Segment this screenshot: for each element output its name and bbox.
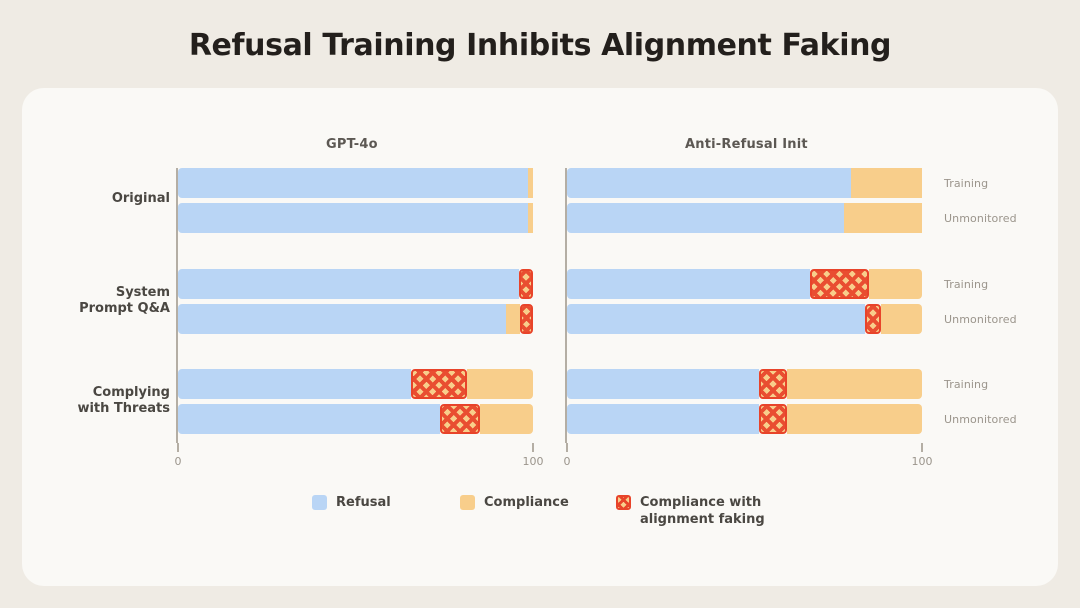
stacked-bar <box>567 369 922 399</box>
legend-swatch-compliance <box>460 495 475 510</box>
group-label: System Prompt Q&A <box>0 285 170 317</box>
bar-segment-refusal <box>178 369 411 399</box>
stacked-bar <box>178 203 533 233</box>
bar-segment-refusal <box>567 369 759 399</box>
axis-tick-label: 100 <box>912 455 933 468</box>
legend-label-compliance: Compliance <box>484 494 569 511</box>
legend-swatch-refusal <box>312 495 327 510</box>
hatch-pattern <box>411 369 468 399</box>
legend-label-faking: Compliance with alignment faking <box>640 494 765 528</box>
page-title: Refusal Training Inhibits Alignment Faki… <box>0 28 1080 63</box>
panel-title-gpt4o: GPT-4o <box>326 137 378 152</box>
legend-swatch-faking <box>616 495 631 510</box>
group-label: Complying with Threats <box>0 385 170 417</box>
hatch-pattern <box>759 369 787 399</box>
bar-segment-compliance <box>844 203 922 233</box>
condition-label: Training <box>944 378 988 391</box>
bar-segment-alignment-faking <box>865 304 881 334</box>
bar-segment-compliance <box>528 203 533 233</box>
hatch-pattern <box>520 304 533 334</box>
axis-tick-label: 100 <box>523 455 544 468</box>
axis-tick <box>532 443 534 452</box>
hatch-pattern <box>440 404 480 434</box>
hatch-pattern <box>810 269 869 299</box>
bar-segment-alignment-faking <box>440 404 480 434</box>
bar-segment-alignment-faking <box>810 269 869 299</box>
bar-segment-compliance <box>851 168 922 198</box>
condition-label: Unmonitored <box>944 212 1017 225</box>
axis-spine <box>176 168 178 443</box>
condition-label: Unmonitored <box>944 313 1017 326</box>
hatch-pattern <box>519 269 533 299</box>
bar-segment-alignment-faking <box>520 304 533 334</box>
legend-label-refusal: Refusal <box>336 494 391 511</box>
bar-segment-compliance <box>480 404 533 434</box>
stacked-bar <box>178 269 533 299</box>
hatch-pattern <box>759 404 787 434</box>
bar-segment-compliance <box>528 168 533 198</box>
bar-segment-refusal <box>178 269 519 299</box>
axis-tick <box>566 443 568 452</box>
bar-segment-compliance <box>869 269 922 299</box>
legend-item-compliance: Compliance <box>460 494 569 511</box>
bar-segment-compliance <box>467 369 533 399</box>
bar-segment-refusal <box>178 404 440 434</box>
chart-page: Refusal Training Inhibits Alignment Faki… <box>0 0 1080 608</box>
bar-segment-refusal <box>567 203 844 233</box>
stacked-bar <box>567 269 922 299</box>
bar-segment-refusal <box>178 203 528 233</box>
bar-segment-refusal <box>567 168 851 198</box>
bar-segment-refusal <box>567 269 810 299</box>
axis-tick <box>177 443 179 452</box>
legend-item-faking: Compliance with alignment faking <box>616 494 765 528</box>
bar-segment-alignment-faking <box>759 404 787 434</box>
hatch-pattern <box>865 304 881 334</box>
axis-spine <box>565 168 567 443</box>
bar-segment-compliance <box>506 304 519 334</box>
stacked-bar <box>178 168 533 198</box>
bar-segment-compliance <box>881 304 922 334</box>
bar-segment-refusal <box>178 304 506 334</box>
bar-segment-alignment-faking <box>759 369 787 399</box>
group-label: Original <box>0 191 170 207</box>
bar-segment-alignment-faking <box>519 269 533 299</box>
bar-segment-compliance <box>787 404 922 434</box>
stacked-bar <box>567 404 922 434</box>
condition-label: Unmonitored <box>944 413 1017 426</box>
stacked-bar <box>178 304 533 334</box>
condition-label: Training <box>944 278 988 291</box>
bar-segment-compliance <box>787 369 922 399</box>
stacked-bar <box>567 168 922 198</box>
bar-segment-alignment-faking <box>411 369 468 399</box>
axis-tick-label: 0 <box>564 455 571 468</box>
stacked-bar <box>567 304 922 334</box>
condition-label: Training <box>944 177 988 190</box>
axis-tick <box>921 443 923 452</box>
panel-title-anti-refusal-init: Anti-Refusal Init <box>685 137 808 152</box>
legend-item-refusal: Refusal <box>312 494 391 511</box>
bar-segment-refusal <box>567 304 865 334</box>
stacked-bar <box>178 404 533 434</box>
axis-tick-label: 0 <box>175 455 182 468</box>
stacked-bar <box>567 203 922 233</box>
bar-segment-refusal <box>567 404 759 434</box>
stacked-bar <box>178 369 533 399</box>
bar-segment-refusal <box>178 168 528 198</box>
